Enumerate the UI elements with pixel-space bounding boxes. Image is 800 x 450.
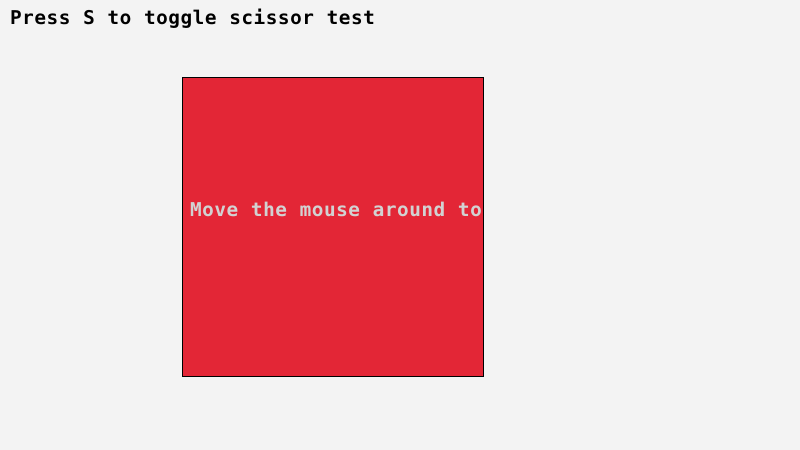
- scissor-region[interactable]: Move the mouse around to reveal this tex…: [182, 77, 484, 377]
- scissor-toggle-hint: Press S to toggle scissor test: [10, 7, 375, 29]
- scissor-clipped-message: Move the mouse around to reveal this tex…: [190, 199, 483, 221]
- scissor-clip-container: Move the mouse around to reveal this tex…: [183, 78, 483, 376]
- raylib-window: Press S to toggle scissor test Move the …: [0, 0, 800, 450]
- window-title: raylib [core] example - scissor test: [0, 0, 1, 1]
